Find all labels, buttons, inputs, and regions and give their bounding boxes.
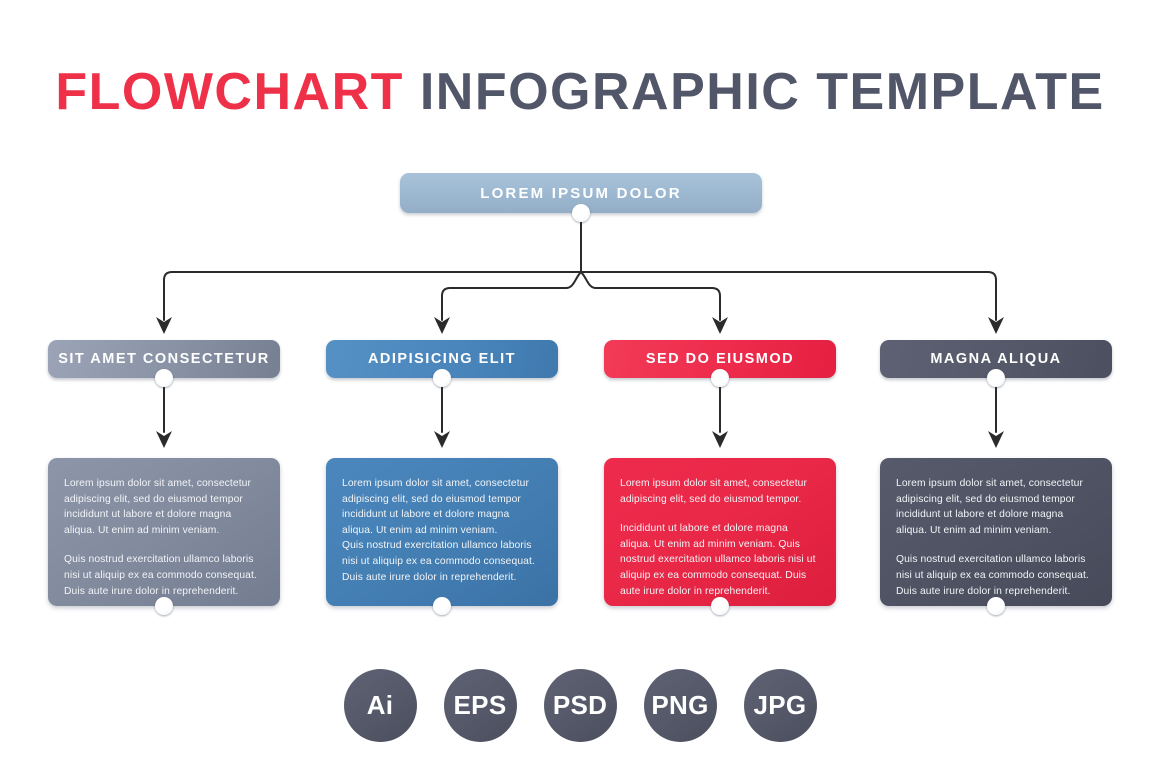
arrowhead-panel-2	[712, 431, 728, 448]
branch-panel-1: Lorem ipsum dolor sit amet, consectetur …	[326, 458, 558, 606]
branch-header-dot-0	[155, 369, 173, 387]
connector-branch-1	[442, 272, 581, 320]
branch-header-label-2: SED DO EIUSMOD	[646, 351, 794, 367]
format-badge-eps[interactable]: EPS	[444, 669, 517, 742]
branch-panel-paragraph: Lorem ipsum dolor sit amet, consectetur …	[342, 476, 542, 538]
branch-header-dot-1	[433, 369, 451, 387]
branch-panel-paragraph: Lorem ipsum dolor sit amet, consectetur …	[64, 476, 264, 538]
arrowhead-header-3	[988, 317, 1004, 334]
connector-branch-3	[581, 272, 996, 320]
format-badge-label: PSD	[553, 690, 607, 721]
format-badge-jpg[interactable]: JPG	[744, 669, 817, 742]
branch-panel-0: Lorem ipsum dolor sit amet, consectetur …	[48, 458, 280, 606]
arrowhead-header-1	[434, 317, 450, 334]
format-badge-label: Ai	[367, 690, 394, 721]
branch-panel-2: Lorem ipsum dolor sit amet, consectetur …	[604, 458, 836, 606]
branch-panel-paragraph: Lorem ipsum dolor sit amet, consectetur …	[620, 476, 820, 507]
format-badge-ai[interactable]: Ai	[344, 669, 417, 742]
branch-panel-paragraph: Quis nostrud exercitation ullamco labori…	[64, 552, 264, 599]
arrowhead-panel-0	[156, 431, 172, 448]
branch-header-dot-2	[711, 369, 729, 387]
format-badge-label: PNG	[651, 690, 708, 721]
format-badge-png[interactable]: PNG	[644, 669, 717, 742]
page-title-accent: FLOWCHART	[55, 63, 404, 121]
page-title: FLOWCHART INFOGRAPHIC TEMPLATE	[0, 62, 1160, 122]
branch-header-dot-3	[987, 369, 1005, 387]
branch-panel-paragraph: Lorem ipsum dolor sit amet, consectetur …	[896, 476, 1096, 538]
branch-panel-dot-3	[987, 597, 1005, 615]
branch-header-label-1: ADIPISICING ELIT	[368, 351, 516, 367]
connector-branch-0	[164, 272, 581, 320]
branch-header-label-0: SIT AMET CONSECTETUR	[58, 351, 270, 367]
branch-panel-dot-2	[711, 597, 729, 615]
arrowhead-header-2	[712, 317, 728, 334]
arrowhead-panel-3	[988, 431, 1004, 448]
arrowhead-header-0	[156, 317, 172, 334]
format-badge-label: JPG	[754, 690, 807, 721]
branch-panel-dot-0	[155, 597, 173, 615]
branch-panel-paragraph: Quis nostrud exercitation ullamco labori…	[896, 552, 1096, 599]
format-badge-label: EPS	[454, 690, 507, 721]
format-badge-psd[interactable]: PSD	[544, 669, 617, 742]
root-node-connector-dot	[572, 204, 590, 222]
branch-header-label-3: MAGNA ALIQUA	[930, 351, 1061, 367]
branch-panel-paragraph: Incididunt ut labore et dolore magna ali…	[620, 521, 820, 599]
branch-panel-dot-1	[433, 597, 451, 615]
file-format-badges: Ai EPS PSD PNG JPG	[0, 669, 1160, 742]
root-node-label: LOREM IPSUM DOLOR	[480, 185, 682, 202]
arrowhead-panel-1	[434, 431, 450, 448]
connector-branch-2	[581, 272, 720, 320]
branch-panel-paragraph: Quis nostrud exercitation ullamco labori…	[342, 538, 542, 585]
branch-panel-3: Lorem ipsum dolor sit amet, consectetur …	[880, 458, 1112, 606]
page-title-rest: INFOGRAPHIC TEMPLATE	[404, 63, 1105, 121]
